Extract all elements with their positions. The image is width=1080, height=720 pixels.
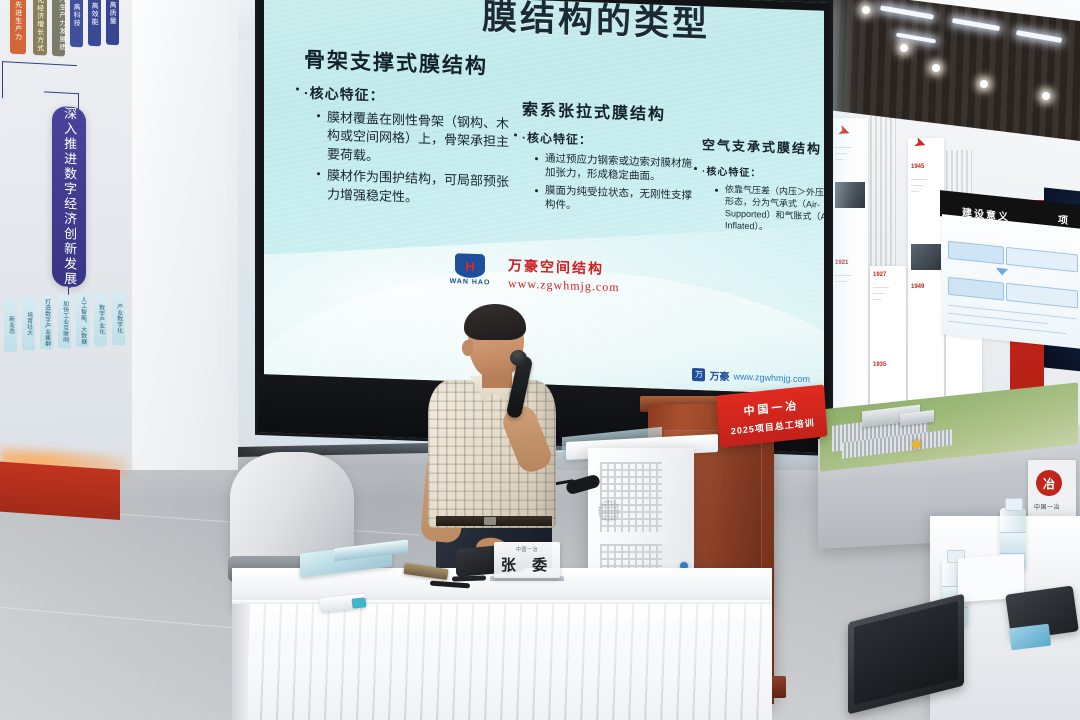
banner-line-1: 中国一冶: [743, 397, 800, 419]
timeline-panel: ➤ 1945 ————————— 1949: [908, 138, 944, 428]
info-box-label-0: [948, 241, 1004, 265]
table-skirt-cloth: [232, 604, 772, 720]
down-arrow-icon: [996, 268, 1008, 276]
slide-column-air-supported: 空气支承式膜结构 ·核心特征： 依靠气压差（内压＞外压）维持形态，分为气承式（A…: [702, 134, 824, 239]
model-marker: [912, 440, 921, 449]
column-sub-label: ·核心特征：: [304, 83, 509, 111]
table-leg: [232, 604, 248, 720]
red-arrow-icon: ➤: [835, 120, 853, 141]
column-sub-label: ·核心特征：: [522, 129, 702, 153]
column-bullet-list: 通过预应力钢索或边索对膜材施加张力，形成稳定曲面。 膜面为纯受拉状态，无刚性支撑…: [535, 151, 702, 218]
nameplate-name: 张 委: [501, 554, 553, 575]
left-chip-5: 高质量: [106, 0, 119, 45]
column-sub-label: ·核心特征：: [702, 162, 824, 183]
info-box-note-0: [1006, 247, 1078, 273]
presenter-hair: [464, 304, 526, 340]
ceiling-spotlight: [1042, 92, 1050, 100]
bullet-item: 依靠气压差（内压＞外压）维持形态，分为气承式（Air-Supported）和气胀…: [715, 183, 824, 237]
left-bottom-chip-6: 产业数字化: [112, 291, 125, 346]
ceiling-spotlight: [862, 6, 870, 14]
column-bullet-list: 依靠气压差（内压＞外压）维持形态，分为气承式（Air-Supported）和气胀…: [715, 183, 824, 237]
watermark-text-block: 万豪空间结构 www.zgwhmjg.com: [508, 255, 620, 295]
timeline-body-text: ———————: [835, 272, 865, 284]
timeline-photo: [835, 182, 865, 208]
red-arrow-icon: ➤: [911, 138, 929, 154]
timeline-body-text: —————————: [911, 176, 941, 194]
left-exhibit-panel: 先进生产力 优化经济增长方式 提升生产力发展质量 高科技 高效能 高质量 深入推…: [0, 0, 132, 470]
water-bottle-cap[interactable]: [1005, 498, 1023, 511]
mcc-logo-icon: 冶: [1036, 470, 1062, 496]
presenter-belt-buckle: [484, 517, 496, 525]
mcc-signboard-text: 中国一冶: [1034, 502, 1060, 511]
slide-column-cable-tensioned: 索系张拉式膜结构 ·核心特征： 通过预应力钢索或边索对膜材施加张力，形成稳定曲面…: [522, 96, 702, 222]
ceiling-spotlight: [932, 64, 940, 72]
divider: [948, 305, 1076, 319]
timeline-photo: [911, 244, 941, 270]
wall-pillar: [118, 0, 238, 470]
info-board: [942, 214, 1080, 350]
watermark-logo-text: WAN HAO: [450, 278, 491, 286]
divider: [948, 321, 1066, 334]
left-bottom-chip-1: 培育壮大: [22, 296, 35, 351]
footer-url: www.zgwhmjg.com: [733, 371, 810, 384]
left-chip-2: 提升生产力发展质量: [52, 0, 65, 56]
column-heading: 骨架支撑式膜结构: [304, 44, 509, 82]
ceiling-spotlight: [980, 80, 988, 88]
bullet-item: 膜面为纯受拉状态，无刚性支撑构件。: [535, 183, 702, 218]
timeline-red-band: [870, 106, 896, 266]
nameplate: 中国一冶 张 委: [494, 542, 560, 578]
ceiling-spotlight: [900, 44, 908, 52]
timeline-panel: 1927 ————————— 1935: [870, 266, 906, 422]
digital-economy-banner: 深入推进数字经济创新发展: [52, 106, 86, 288]
timeline-year: 1921: [835, 260, 848, 266]
info-box-label-1: [948, 277, 1004, 301]
bullet-item: 膜材覆盖在刚性骨架（钢构、木构或空间网格）上，骨架承担主要荷载。: [317, 108, 509, 170]
water-bottle-label: [1000, 532, 1026, 554]
slide-title: 膜结构的类型: [482, 0, 812, 51]
info-box-note-1: [1006, 283, 1078, 309]
footer-logo-icon: 万: [692, 368, 705, 381]
left-chip-3: 高科技: [70, 0, 83, 47]
timeline-year: 1927: [873, 272, 886, 278]
left-bottom-chip-4: 人工智能、大数据: [76, 293, 89, 348]
watermark-company-name: 万豪空间结构: [508, 255, 620, 279]
wanhao-shield-icon: H: [455, 253, 485, 278]
left-bottom-chip-3: 加快工业互联网: [58, 294, 71, 349]
column-heading: 索系张拉式膜结构: [522, 96, 702, 127]
presenter-remote-tip: [352, 597, 367, 608]
left-bottom-chip-5: 数字产业化: [94, 292, 107, 347]
watermark-logo: H WAN HAO: [444, 253, 496, 295]
presenter-ear: [462, 340, 473, 356]
bullet-item: 通过预应力钢索或边索对膜材施加张力，形成稳定曲面。: [535, 151, 702, 186]
timeline-body-text: —————————: [873, 284, 903, 302]
left-chip-4: 高效能: [88, 0, 101, 46]
column-bullet-list: 膜材覆盖在刚性骨架（钢构、木构或空间网格）上，骨架承担主要荷载。 膜材作为围护结…: [317, 108, 509, 210]
left-bottom-chip-row: 新业态 培育壮大 打造数字产业集群 加快工业互联网 人工智能、大数据 数字产业化…: [0, 293, 132, 360]
timeline-year: 1949: [911, 284, 924, 290]
left-bottom-chip-2: 打造数字产业集群: [40, 295, 53, 350]
footer-company-name: 万豪: [709, 368, 729, 384]
timeline-year: 1935: [873, 362, 886, 368]
timeline-panel: ➤ ————————— 1921 ———————: [832, 118, 868, 418]
conference-room-scene: 先进生产力 优化经济增长方式 提升生产力发展质量 高科技 高效能 高质量 深入推…: [0, 0, 1080, 720]
timeline-body-text: —————————: [835, 144, 865, 162]
left-chip-1: 优化经济增长方式: [33, 0, 47, 56]
nameplate-org: 中国一冶: [516, 546, 538, 553]
left-bottom-chip-0: 新业态: [4, 297, 17, 352]
left-chip-0: 先进生产力: [10, 0, 26, 54]
timeline-year: 1945: [911, 164, 924, 170]
column-heading: 空气支承式膜结构: [702, 134, 824, 159]
slide-column-frame-supported: 骨架支撑式膜结构 ·核心特征： 膜材覆盖在刚性骨架（钢构、木构或空间网格）上，骨…: [304, 44, 509, 214]
exhibit-red-base: [0, 462, 120, 520]
bullet-item: 膜材作为围护结构，可局部预张力增强稳定性。: [317, 167, 509, 211]
